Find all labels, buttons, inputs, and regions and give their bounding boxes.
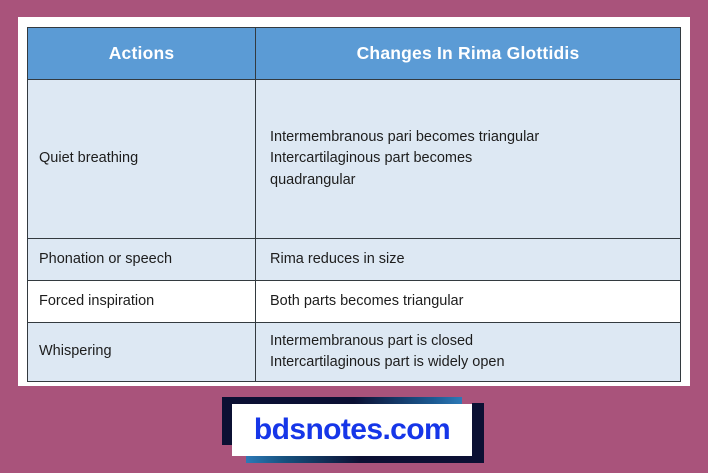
cell-line: quadrangular — [270, 170, 670, 191]
table-row: Phonation or speech Rima reduces in size — [28, 239, 681, 281]
cell-action-phonation-or-speech: Phonation or speech — [28, 239, 256, 281]
table-header: Actions Changes In Rima Glottidis — [28, 28, 681, 80]
cell-changes-whispering: Intermembranous part is closed Intercart… — [256, 323, 681, 382]
cell-line: Intercartilaginous part is widely open — [270, 352, 670, 373]
table-row: Forced inspiration Both parts becomes tr… — [28, 281, 681, 323]
cell-line: Rima reduces in size — [270, 249, 670, 270]
table-row: Quiet breathing Intermembranous pari bec… — [28, 80, 681, 239]
cell-line: Both parts becomes triangular — [270, 291, 670, 312]
column-header-changes: Changes In Rima Glottidis — [256, 28, 681, 80]
logo-text: bdsnotes.com — [232, 404, 472, 456]
cell-line: Intercartilaginous part becomes — [270, 148, 670, 169]
cell-changes-phonation-or-speech: Rima reduces in size — [256, 239, 681, 281]
cell-line: Intermembranous pari becomes triangular — [270, 127, 670, 148]
table-body: Quiet breathing Intermembranous pari bec… — [28, 80, 681, 382]
cell-line: Intermembranous part is closed — [270, 331, 670, 352]
cell-action-quiet-breathing: Quiet breathing — [28, 80, 256, 239]
table-row: Whispering Intermembranous part is close… — [28, 323, 681, 382]
column-header-actions: Actions — [28, 28, 256, 80]
cell-changes-quiet-breathing: Intermembranous pari becomes triangular … — [256, 80, 681, 239]
cell-action-forced-inspiration: Forced inspiration — [28, 281, 256, 323]
rima-glottidis-table-container: Actions Changes In Rima Glottidis Quiet … — [27, 27, 681, 377]
cell-action-whispering: Whispering — [28, 323, 256, 382]
rima-glottidis-table: Actions Changes In Rima Glottidis Quiet … — [27, 27, 681, 382]
bdsnotes-watermark[interactable]: bdsnotes.com — [220, 397, 486, 463]
cell-changes-forced-inspiration: Both parts becomes triangular — [256, 281, 681, 323]
slide-canvas: Actions Changes In Rima Glottidis Quiet … — [0, 0, 708, 473]
table-header-row: Actions Changes In Rima Glottidis — [28, 28, 681, 80]
